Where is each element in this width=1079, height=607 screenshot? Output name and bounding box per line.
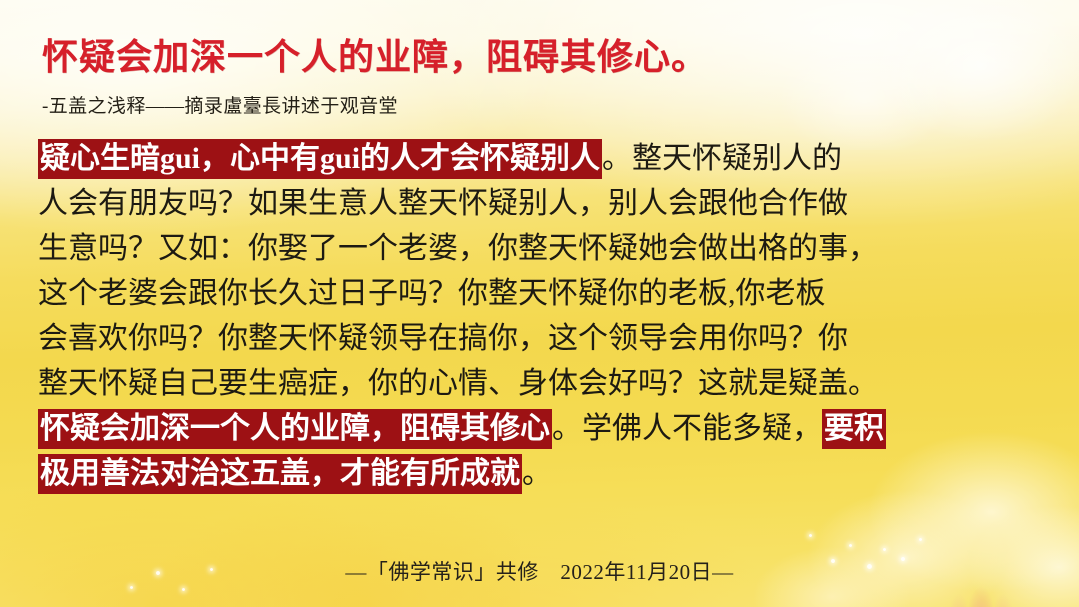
body-line: 怀疑会加深一个人的业障，阻碍其修心。学佛人不能多疑，要积 — [38, 406, 1048, 451]
body-line: 人会有朋友吗？如果生意人整天怀疑别人，别人会跟他合作做 — [38, 181, 1048, 226]
body-line: 疑心生暗gui，心中有gui的人才会怀疑别人。整天怀疑别人的 — [38, 136, 1048, 181]
body-line: 会喜欢你吗？你整天怀疑领导在搞你，这个领导会用你吗？你 — [38, 316, 1048, 361]
plain-text: 。学佛人不能多疑， — [552, 412, 822, 445]
highlighted-text: 极用善法对治这五盖，才能有所成就 — [38, 454, 522, 494]
plain-text: 整天怀疑自己要生癌症，你的心情、身体会好吗？这就是疑盖。 — [38, 367, 878, 400]
body-line: 极用善法对治这五盖，才能有所成就。 — [38, 451, 1048, 496]
plain-text: 人会有朋友吗？如果生意人整天怀疑别人，别人会跟他合作做 — [38, 187, 848, 220]
plain-text: 。 — [522, 457, 552, 490]
plain-text: 这个老婆会跟你长久过日子吗？你整天怀疑你的老板,你老板 — [38, 277, 826, 310]
body-line: 这个老婆会跟你长久过日子吗？你整天怀疑你的老板,你老板 — [38, 271, 1048, 316]
slide-footer: —「佛学常识」共修 2022年11月20日— — [0, 556, 1079, 586]
slide-content: 怀疑会加深一个人的业障，阻碍其修心。 -五盖之浅释——摘录盧臺長讲述于观音堂 疑… — [0, 0, 1079, 607]
slide-canvas: 怀疑会加深一个人的业障，阻碍其修心。 -五盖之浅释——摘录盧臺長讲述于观音堂 疑… — [0, 0, 1079, 607]
body-line: 整天怀疑自己要生癌症，你的心情、身体会好吗？这就是疑盖。 — [38, 361, 1048, 406]
plain-text: 。整天怀疑别人的 — [602, 142, 842, 175]
slide-subtitle: -五盖之浅释——摘录盧臺長讲述于观音堂 — [42, 91, 398, 118]
plain-text: 生意吗？又如：你娶了一个老婆，你整天怀疑她会做出格的事， — [38, 232, 878, 265]
highlighted-text: 怀疑会加深一个人的业障，阻碍其修心 — [38, 409, 552, 449]
plain-text: 会喜欢你吗？你整天怀疑领导在搞你，这个领导会用你吗？你 — [38, 322, 848, 355]
body-paragraph: 疑心生暗gui，心中有gui的人才会怀疑别人。整天怀疑别人的人会有朋友吗？如果生… — [38, 136, 1048, 496]
body-line: 生意吗？又如：你娶了一个老婆，你整天怀疑她会做出格的事， — [38, 226, 1048, 271]
highlighted-text: 要积 — [822, 409, 886, 449]
slide-title: 怀疑会加深一个人的业障，阻碍其修心。 — [42, 28, 708, 80]
highlighted-text: 疑心生暗gui，心中有gui的人才会怀疑别人 — [38, 139, 602, 179]
